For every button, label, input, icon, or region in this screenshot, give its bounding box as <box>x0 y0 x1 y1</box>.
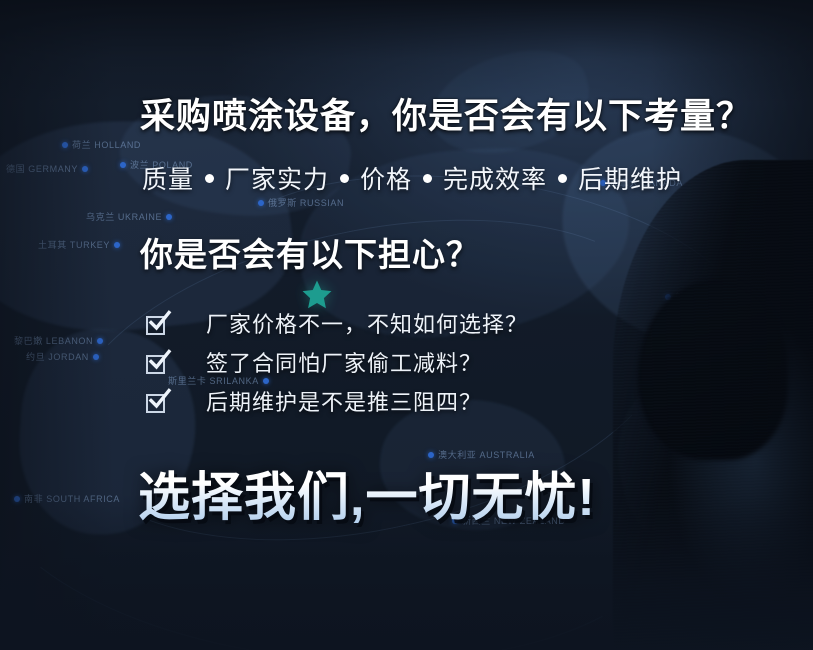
feature-keyword: 完成效率 <box>443 160 547 196</box>
bullet-separator-icon <box>340 174 349 183</box>
feature-keyword: 价格 <box>360 160 412 196</box>
feature-keyword: 厂家实力 <box>225 160 329 196</box>
checkbox-checked-icon <box>146 349 172 375</box>
headline-slogan: 选择我们,一切无忧! <box>138 455 596 530</box>
bullet-separator-icon <box>423 174 432 183</box>
bullet-separator-icon <box>558 174 567 183</box>
checkbox-checked-icon <box>146 310 172 336</box>
checklist-item-label: 签了合同怕厂家偷工减料？ <box>206 346 482 378</box>
checklist-item-label: 厂家价格不一，不知如何选择？ <box>206 307 528 339</box>
banner-content: 采购喷涂设备，你是否会有以下考量？ 质量厂家实力价格完成效率后期维护 你是否会有… <box>0 0 813 650</box>
feature-keyword: 质量 <box>142 160 194 196</box>
checklist-item-label: 后期维护是不是推三阻四？ <box>206 385 482 417</box>
concern-checklist: 厂家价格不一，不知如何选择？签了合同怕厂家偷工减料？后期维护是不是推三阻四？ <box>146 303 528 420</box>
checklist-item: 后期维护是不是推三阻四？ <box>146 381 528 420</box>
headline-main: 采购喷涂设备，你是否会有以下考量？ <box>140 88 752 139</box>
bullet-separator-icon <box>205 174 214 183</box>
promo-banner: 荷兰 HOLLAND波兰 POLAND德国 GERMANY俄罗斯 RUSSIAN… <box>0 0 813 650</box>
checkbox-checked-icon <box>146 388 172 414</box>
checklist-item: 厂家价格不一，不知如何选择？ <box>146 303 528 342</box>
headline-secondary: 你是否会有以下担心？ <box>140 228 480 276</box>
checklist-item: 签了合同怕厂家偷工减料？ <box>146 342 528 381</box>
feature-keyword: 后期维护 <box>578 160 682 196</box>
feature-keyword-list: 质量厂家实力价格完成效率后期维护 <box>142 160 682 196</box>
